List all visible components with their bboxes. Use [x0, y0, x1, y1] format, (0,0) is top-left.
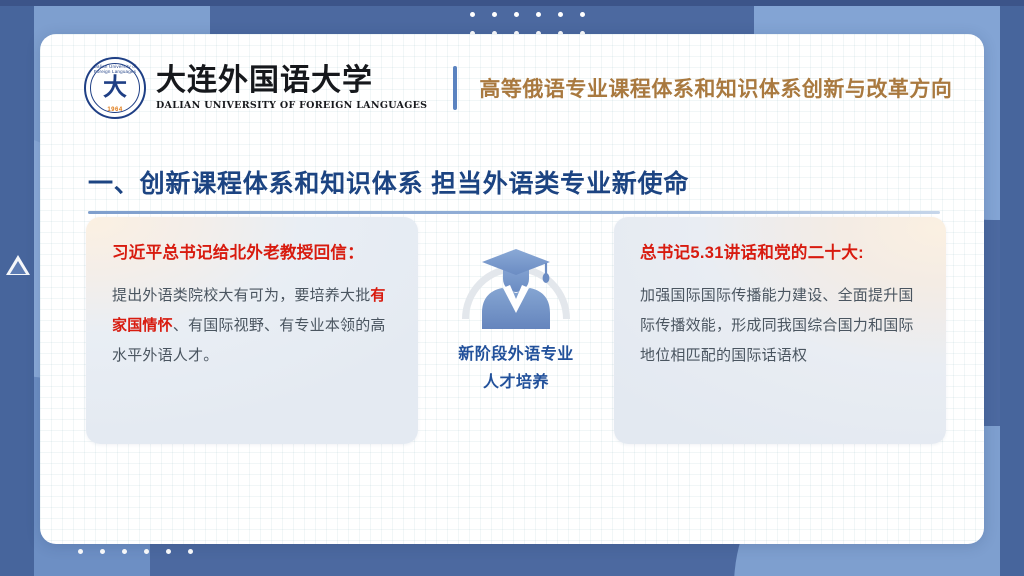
section-heading-block: 一、创新课程体系和知识体系 担当外语类专业新使命 — [88, 164, 938, 214]
card-center-label: 新阶段外语专业 人才培养 — [458, 341, 574, 397]
card-right-text: 加强国际国际传播能力建设、全面提升国际传播效能，形成同我国综合国力和国际地位相匹… — [640, 281, 920, 371]
card-left-text-part1: 提出外语类院校大有可为，要培养大批 — [112, 287, 370, 304]
triangle-outline-icon — [6, 255, 30, 275]
card-center-label-line2: 人才培养 — [458, 369, 574, 397]
card-right-heading: 总书记5.31讲话和党的二十大: — [640, 243, 920, 264]
university-name-en: DALIAN UNIVERSITY OF FOREIGN LANGUAGES — [156, 100, 427, 111]
dot-grid-bottom — [78, 549, 193, 554]
slide-title: 高等俄语专业课程体系和知识体系创新与改革方向 — [479, 73, 952, 103]
card-center-label-line1: 新阶段外语专业 — [458, 341, 574, 369]
card-speech-20th-congress: 总书记5.31讲话和党的二十大: 加强国际国际传播能力建设、全面提升国际传播效能… — [614, 217, 946, 444]
card-left-text: 提出外语类院校大有可为，要培养大批有家国情怀、有国际视野、有专业本领的高水平外语… — [112, 281, 392, 371]
cards-row: 习近平总书记给北外老教授回信： 提出外语类院校大有可为，要培养大批有家国情怀、有… — [86, 217, 946, 477]
university-seal-icon: Dalian University of Foreign Languages 大… — [84, 57, 146, 119]
graduate-icon-wrap — [462, 247, 570, 329]
header-divider — [453, 66, 457, 110]
seal-mark: 大 — [103, 75, 127, 99]
card-center-icon-block: 新阶段外语专业 人才培养 — [418, 217, 614, 397]
section-heading: 一、创新课程体系和知识体系 担当外语类专业新使命 — [88, 164, 938, 200]
university-name-cn: 大连外国语大学 — [156, 65, 427, 97]
section-underline — [88, 211, 940, 214]
seal-year: 1964 — [86, 107, 144, 113]
bg-strip-top — [0, 0, 1024, 6]
card-xi-letter: 习近平总书记给北外老教授回信： 提出外语类院校大有可为，要培养大批有家国情怀、有… — [86, 217, 418, 444]
card-left-heading: 习近平总书记给北外老教授回信： — [112, 243, 392, 264]
dot-grid-top — [470, 12, 585, 36]
bg-band-left — [0, 0, 34, 576]
university-wordmark: 大连外国语大学 DALIAN UNIVERSITY OF FOREIGN LAN… — [156, 65, 427, 111]
graduate-person-icon — [462, 247, 570, 329]
bg-band-right — [1000, 0, 1024, 576]
slide-header: Dalian University of Foreign Languages 大… — [84, 57, 952, 119]
content-panel: Dalian University of Foreign Languages 大… — [40, 34, 984, 544]
